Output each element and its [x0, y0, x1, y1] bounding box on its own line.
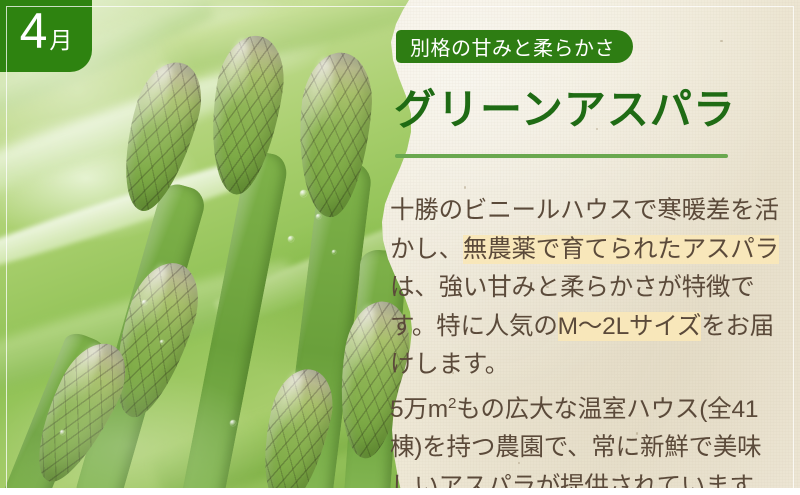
product-photo — [0, 0, 430, 495]
month-number: 4 — [20, 0, 47, 56]
title-divider — [395, 154, 728, 158]
highlight-size-range: M〜2Lサイズ — [558, 312, 702, 341]
month-unit-label: 月 — [46, 29, 72, 52]
bottom-white-band — [0, 488, 800, 495]
dew-drop — [230, 420, 236, 426]
highlight-no-pesticide: 無農薬で育てられたアスパラ — [463, 235, 779, 264]
description-text: 十勝のビニールハウスで寒暖差を活かし、無農薬で育てられたアスパラは、強い甘みと柔… — [390, 192, 782, 495]
page-title: グリーンアスパラ — [394, 76, 736, 137]
dew-drop — [60, 430, 65, 435]
panel-content: 別格の甘みと柔らかさ グリーンアスパラ 十勝のビニールハウスで寒暖差を活かし、無… — [368, 0, 800, 495]
tagline-text: 別格の甘みと柔らかさ — [410, 32, 615, 61]
dew-drop — [160, 340, 164, 344]
area-unit: m — [428, 396, 448, 423]
dew-drop — [316, 214, 321, 219]
dew-drop — [332, 250, 336, 254]
dew-drop — [142, 300, 147, 305]
month-badge: 4 月 — [0, 0, 92, 72]
description-segment: 5万 — [390, 396, 428, 423]
promo-card: 4 月 別格の甘みと柔らかさ グリーンアスパラ — [0, 0, 800, 495]
tagline-badge: 別格の甘みと柔らかさ — [396, 30, 633, 63]
dew-drop — [288, 236, 294, 242]
area-unit-exponent: 2 — [448, 395, 456, 412]
dew-drop — [300, 190, 307, 197]
